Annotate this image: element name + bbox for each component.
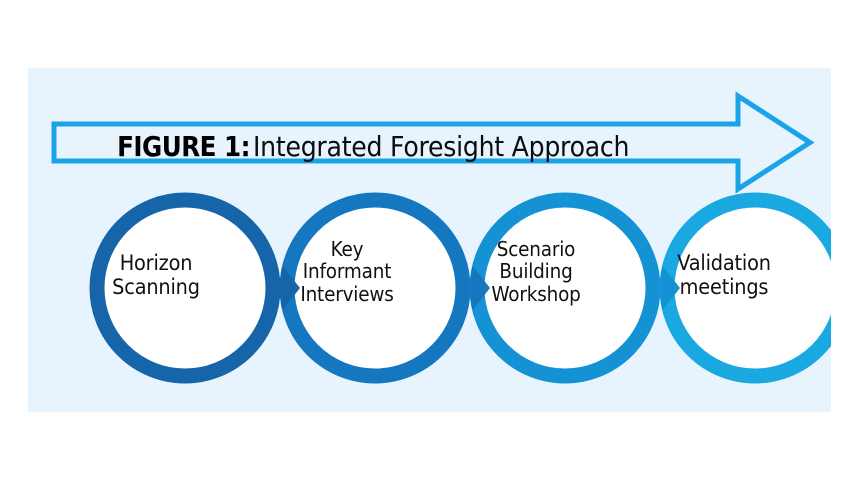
- step-ring-2: [287, 200, 463, 376]
- process-chain: [28, 185, 831, 390]
- figure-container: FIGURE 1: Integrated Foresight Approach: [0, 0, 857, 482]
- step-ring-4: [667, 200, 831, 376]
- figure-title: FIGURE 1: Integrated Foresight Approach: [60, 122, 710, 170]
- step-ring-3: [477, 200, 653, 376]
- figure-title-prefix: FIGURE 1:: [117, 130, 250, 163]
- ring-group: [97, 200, 831, 376]
- step-ring-1: [97, 200, 273, 376]
- figure-title-main: Integrated Foresight Approach: [253, 130, 629, 163]
